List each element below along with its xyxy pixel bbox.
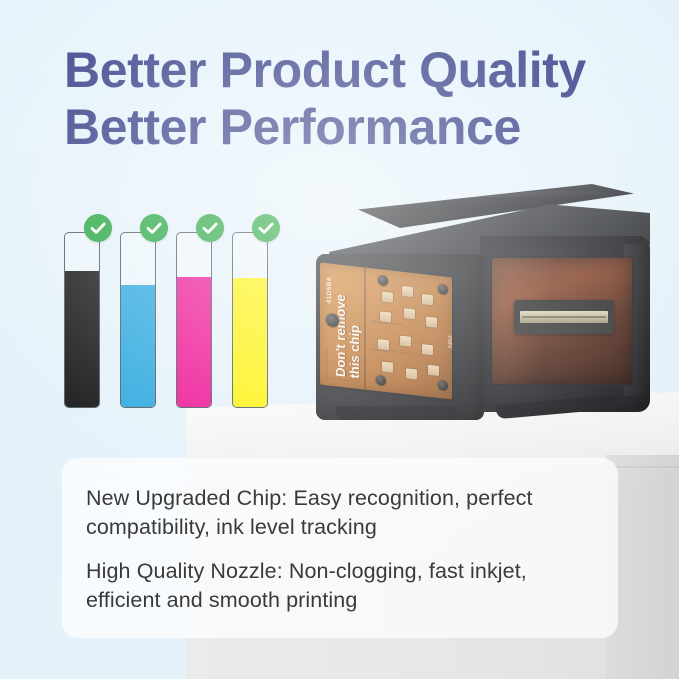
chip-warning-line-1: Don't remove [333, 293, 348, 377]
chip-warning-line-2: this chip [348, 272, 362, 380]
chip-pad [406, 368, 417, 379]
headline-line-2: Better Performance [64, 99, 624, 156]
chip-trace [326, 347, 328, 379]
check-badge-cyan [140, 214, 168, 242]
feature-item-nozzle: High Quality Nozzle: Non-clogging, fast … [86, 557, 606, 614]
chip-pad [422, 294, 433, 305]
check-badge-black [84, 214, 112, 242]
chip-pad [400, 336, 411, 347]
ink-cartridge-image: 41D5B4 2452 Don't remove this chip [300, 178, 670, 438]
check-badge-magenta [196, 214, 224, 242]
check-badge-yellow [252, 214, 280, 242]
chip-rivet [438, 380, 448, 391]
nozzle-contact-plate [514, 300, 614, 334]
product-feature-graphic: Better Product Quality Better Performanc… [0, 0, 679, 679]
chip-pad [426, 317, 437, 328]
chip-serial-left: 41D5B4 [326, 277, 333, 304]
ink-bar-black [64, 232, 100, 408]
chip-serial-right: 2452 [448, 335, 452, 349]
ink-fill-cyan [121, 285, 155, 407]
headline-line-1: Better Product Quality [64, 42, 586, 98]
chip-rivet [378, 275, 388, 286]
ink-fill-black [65, 271, 99, 407]
chip-pad [382, 362, 393, 373]
ink-fill-yellow [233, 278, 267, 407]
chip-pad [402, 286, 413, 297]
nozzle-strip [520, 311, 608, 323]
chip-divider [364, 267, 366, 389]
chip-pad [404, 308, 415, 319]
ink-bar-cyan [120, 232, 156, 408]
chip-trace [370, 348, 428, 356]
chip-pad [382, 292, 393, 303]
cartridge-foot-front [336, 406, 456, 420]
page-title: Better Product Quality Better Performanc… [64, 42, 624, 156]
ink-fill-magenta [177, 277, 211, 408]
feature-item-chip: New Upgraded Chip: Easy recognition, per… [86, 484, 606, 541]
cartridge-chip: 41D5B4 2452 Don't remove this chip [320, 262, 452, 399]
chip-rivet [376, 375, 386, 386]
chip-warning-text: Don't remove this chip [334, 270, 362, 379]
ink-bar-magenta [176, 232, 212, 408]
chip-rivet [326, 313, 339, 327]
ink-bar-yellow [232, 232, 268, 408]
chip-pad [428, 365, 439, 376]
feature-list: New Upgraded Chip: Easy recognition, per… [86, 484, 606, 614]
chip-rivet [438, 284, 448, 295]
